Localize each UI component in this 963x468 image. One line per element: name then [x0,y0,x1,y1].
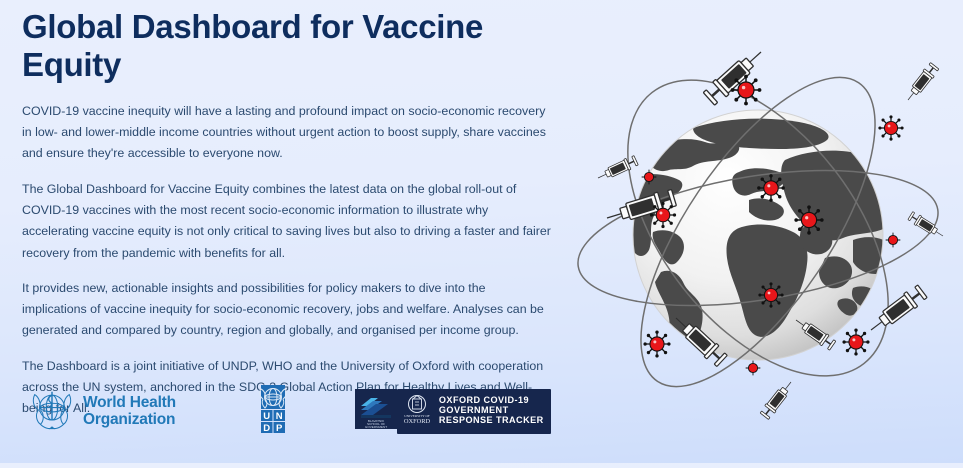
covid19-label: COVID-19 [484,395,530,405]
oxford-tracker-text: OXFORD COVID-19 GOVERNMENT RESPONSE TRAC… [439,396,544,425]
virus-icon-center-lower [758,282,783,307]
virus-icon-bottom [746,361,760,375]
undp-letter-p: P [276,423,283,433]
undp-letter-d: D [263,423,270,433]
blavatnik-school-icon: BLAVATNIK SCHOOL OF GOVERNMENT [355,389,397,434]
intro-paragraph-2: The Global Dashboard for Vaccine Equity … [22,179,552,264]
undp-letter-n: N [276,411,283,422]
oxford-tracker-logo[interactable]: BLAVATNIK SCHOOL OF GOVERNMENT [355,389,551,434]
intro-paragraph-1: COVID-19 vaccine inequity will have a la… [22,101,552,165]
page-root: Global Dashboard for Vaccine Equity COVI… [0,0,963,463]
who-logo-text: World Health Organization [83,394,176,429]
svg-text:GOVERNMENT: GOVERNMENT [365,425,387,429]
partner-logos: World Health Organization [28,385,551,437]
syringe-icon-upper-left-small [595,155,638,184]
undp-letter-u: U [263,411,270,422]
virus-icon-russia [757,174,785,202]
syringe-icon-top [702,45,767,107]
who-logo[interactable]: World Health Organization [28,385,176,438]
virus-icon-upper-right [878,115,903,140]
who-emblem-icon [28,385,76,438]
syringe-icon-upper-right [903,62,939,104]
syringe-icon-bottom [759,378,795,420]
virus-icon-left [650,202,676,228]
oxford-tracker-wordmark: UNIVERSITY OF OXFORD OXFORD COVID-19 GOV… [397,389,551,434]
undp-logo[interactable]: U N D P [256,385,290,438]
who-logo-line1: World Health [83,394,176,411]
virus-icon-right [886,233,900,247]
syringe-icon-lower-right [865,284,928,337]
oxford-crest-icon: UNIVERSITY OF OXFORD [402,393,432,430]
who-logo-line2: Organization [83,411,176,428]
oxford-label: OXFORD [439,395,481,405]
intro-paragraph-3: It provides new, actionable insights and… [22,278,552,342]
oxford-tracker-line3: RESPONSE TRACKER [439,416,544,426]
virus-icon-asia [794,205,823,234]
intro-content: Global Dashboard for Vaccine Equity COVI… [22,8,552,420]
svg-text:OXFORD: OXFORD [404,418,431,425]
page-title: Global Dashboard for Vaccine Equity [22,8,522,85]
virus-icon-lower-right [842,328,869,355]
virus-icon-lower-left [643,330,670,357]
virus-icon-top [731,75,762,106]
globe-vaccine-illustration [553,0,963,463]
